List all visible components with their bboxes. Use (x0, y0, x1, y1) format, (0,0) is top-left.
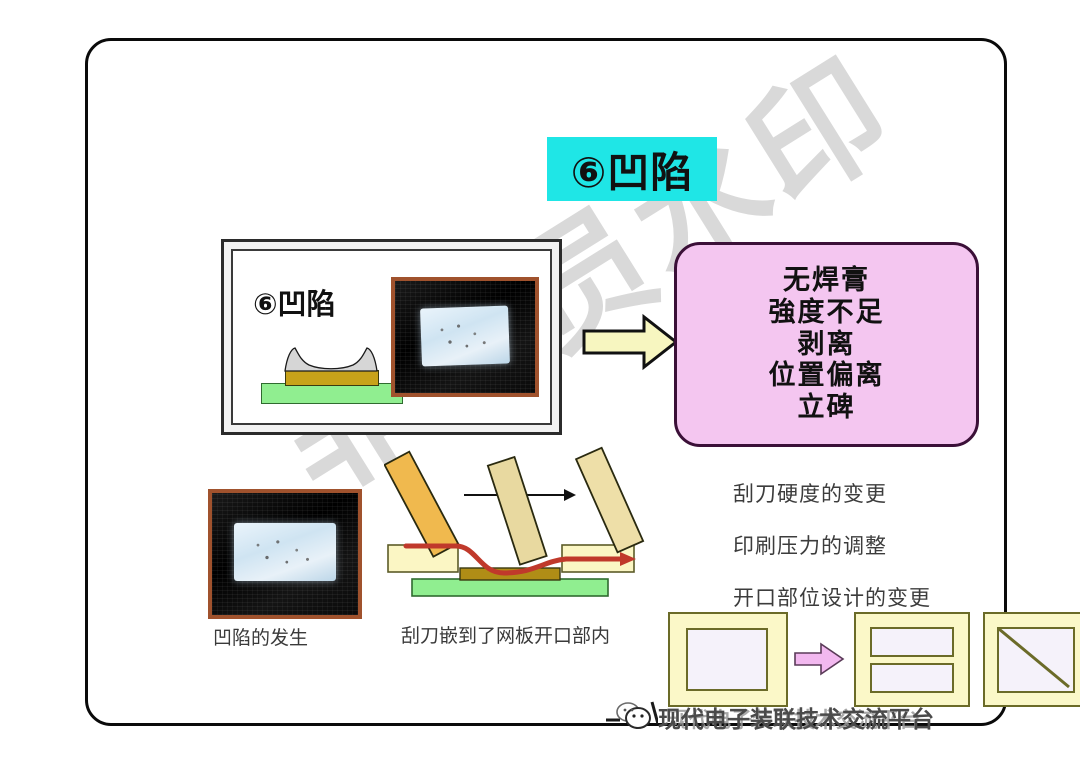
defect-item: 立碑 (798, 392, 856, 424)
footer-text: 现代电子装联技术交流平台 (658, 700, 934, 734)
solder-paste-deposit (234, 523, 336, 581)
defect-item: 剥离 (798, 329, 856, 361)
remedy-item: 刮刀硬度的变更 (733, 478, 931, 508)
page-title: ⑥凹陷 (547, 137, 717, 201)
aperture-opening-bar-bottom (870, 663, 954, 693)
slide-frame: 非会员水印 ⑥凹陷 ⑥凹陷 无焊膏 強度不足 剥离 位置偏离 立碑 (85, 38, 1007, 726)
cross-section-diagram (261, 343, 401, 403)
flow-arrow-icon (582, 313, 678, 371)
diagonal-divider-icon (997, 627, 1071, 689)
defect-photo-occurrence (208, 489, 362, 619)
page-title-text: ⑥凹陷 (571, 139, 694, 200)
footer-channel: 现代电子装联技术交流平台 现代电子装联技术交流平台 (606, 692, 1046, 740)
dipped-paste-shape (283, 347, 379, 373)
aperture-opening-bar-top (870, 627, 954, 657)
caption-squeegee-diagram: 刮刀嵌到了网板开口部内 (401, 624, 641, 650)
defect-item: 无焊膏 (783, 265, 870, 297)
consequences-box: 无焊膏 強度不足 剥离 位置偏离 立碑 (674, 242, 979, 447)
wechat-logo-icon (606, 698, 658, 730)
defect-photo-closeup (391, 277, 539, 397)
solder-paste-deposit (420, 305, 510, 366)
remedy-list: 刮刀硬度的变更 印刷压力的调整 开口部位设计的变更 (733, 478, 931, 634)
aperture-change-arrow-icon (793, 642, 845, 676)
pcb-layer (261, 383, 403, 404)
caption-photo-occurrence: 凹陷的发生 (213, 626, 393, 652)
defect-panel-label: ⑥凹陷 (253, 281, 336, 323)
aperture-opening-single (686, 628, 768, 691)
remedy-item: 印刷压力的调整 (733, 530, 931, 560)
defect-item: 強度不足 (769, 297, 885, 329)
defect-item: 位置偏离 (769, 360, 885, 392)
remedy-item: 开口部位设计的变更 (733, 582, 931, 612)
squeegee-diagram (384, 445, 674, 609)
